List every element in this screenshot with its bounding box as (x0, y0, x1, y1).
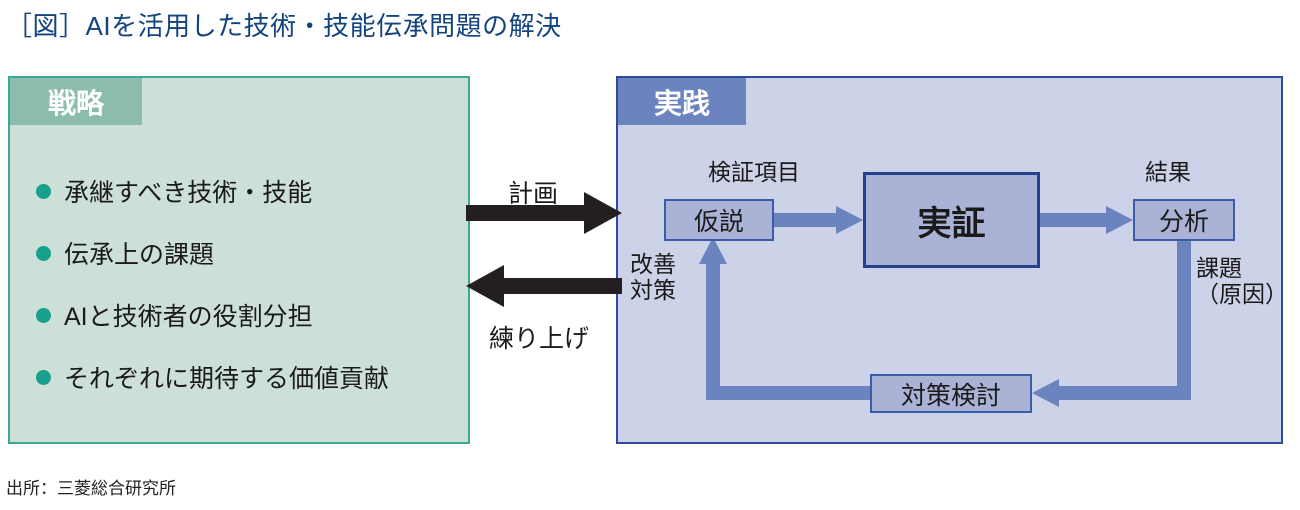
verification-to-analysis-arrow-icon (1040, 206, 1133, 234)
strategy-bullet-list: 承継すべき技術・技能 伝承上の課題 AIと技術者の役割分担 それぞれに期待する価… (36, 160, 456, 408)
list-item-label: それぞれに期待する価値貢献 (64, 359, 389, 395)
improvement-label-line2: 対策 (630, 278, 676, 304)
node-hypothesis: 仮説 (664, 199, 774, 241)
refine-arrow-left-icon (466, 265, 622, 307)
verification-items-label: 検証項目 (708, 160, 800, 186)
page-title: ［図］AIを活用した技術・技能伝承問題の解決 (6, 6, 562, 43)
node-countermeasure: 対策検討 (870, 374, 1032, 413)
list-item: 伝承上の課題 (36, 222, 456, 284)
result-label: 結果 (1145, 160, 1191, 186)
improvement-label-line1: 改善 (630, 252, 676, 278)
analysis-to-countermeasure-arrow-icon (1032, 238, 1191, 407)
list-item-label: 伝承上の課題 (64, 235, 214, 271)
plan-arrow-label: 計画 (508, 174, 558, 210)
list-item: AIと技術者の役割分担 (36, 284, 456, 346)
list-item: 承継すべき技術・技能 (36, 160, 456, 222)
strategy-panel: 戦略 承継すべき技術・技能 伝承上の課題 AIと技術者の役割分担 それぞれに期待… (8, 76, 470, 444)
bullet-dot-icon (36, 370, 51, 385)
list-item-label: AIと技術者の役割分担 (64, 297, 313, 333)
hypothesis-to-verification-arrow-icon (774, 206, 863, 234)
refine-arrow-label: 練り上げ (489, 319, 589, 355)
bullet-dot-icon (36, 308, 51, 323)
list-item: それぞれに期待する価値貢献 (36, 346, 456, 408)
practice-panel: 実践 検証項目 結果 改善 対策 (616, 76, 1283, 444)
strategy-panel-header: 戦略 (10, 78, 142, 125)
source-note: 出所：三菱総合研究所 (6, 474, 176, 499)
bullet-dot-icon (36, 184, 51, 199)
issue-cause-label-line2: （原因） (1196, 282, 1288, 308)
node-verification: 実証 (863, 172, 1040, 268)
bullet-dot-icon (36, 246, 51, 261)
countermeasure-to-hypothesis-arrow-icon (699, 237, 872, 400)
issue-cause-label-line1: 課題 (1196, 256, 1288, 282)
list-item-label: 承継すべき技術・技能 (64, 173, 312, 209)
issue-cause-label: 課題 （原因） (1196, 256, 1288, 308)
node-analysis: 分析 (1133, 199, 1235, 241)
improvement-label: 改善 対策 (630, 252, 676, 304)
